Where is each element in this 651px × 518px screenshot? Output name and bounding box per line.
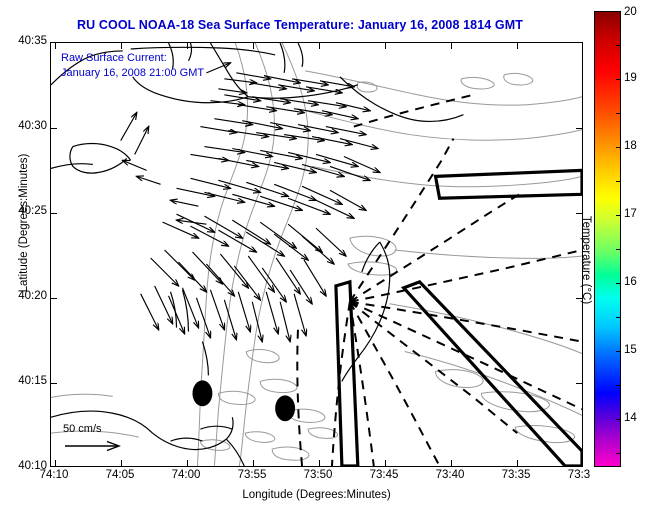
y-axis-labels: 40:35 40:30 40:25 40:20 40:15 40:10 bbox=[0, 42, 47, 467]
x-tick-label: 73:35 bbox=[502, 469, 531, 481]
map-plot-area[interactable]: Raw Surface Current: January 16, 2008 21… bbox=[50, 42, 583, 467]
station-marker bbox=[192, 380, 212, 406]
y-tick-label: 40:20 bbox=[1, 290, 47, 302]
colorbar-labels: 20 19 18 17 16 15 14 bbox=[624, 11, 646, 467]
station-marker bbox=[275, 395, 295, 421]
bathymetry-contours bbox=[51, 43, 582, 466]
x-tick-label: 74:10 bbox=[40, 469, 69, 481]
annotation-line-2: January 16, 2008 21:00 GMT bbox=[61, 66, 204, 81]
x-tick-label: 73:45 bbox=[370, 469, 399, 481]
y-tick-label: 40:15 bbox=[1, 375, 47, 387]
colorbar-tick-label: 16 bbox=[624, 276, 637, 288]
vector-scale-legend: 50 cm/s bbox=[63, 423, 123, 457]
figure-title: RU COOL NOAA-18 Sea Surface Temperature:… bbox=[0, 18, 600, 32]
colorbar-tick-label: 17 bbox=[624, 208, 637, 220]
colorbar[interactable] bbox=[594, 11, 621, 467]
colorbar-tick-label: 19 bbox=[624, 72, 637, 84]
y-tick-label: 40:35 bbox=[1, 35, 47, 47]
x-axis-labels: 74:10 74:05 74:00 73:55 73:50 73:45 73:4… bbox=[50, 469, 583, 489]
annotation-line-1: Raw Surface Current: bbox=[61, 51, 204, 66]
x-axis-title: Longitude (Degrees:Minutes) bbox=[50, 489, 583, 501]
colorbar-tick-label: 18 bbox=[624, 140, 637, 152]
sst-map-figure: RU COOL NOAA-18 Sea Surface Temperature:… bbox=[0, 0, 651, 518]
colorbar-tick-label: 14 bbox=[624, 412, 637, 424]
coastline bbox=[51, 43, 463, 466]
shipping-lanes bbox=[336, 170, 582, 466]
x-tick-label: 74:00 bbox=[172, 469, 201, 481]
surface-current-vectors bbox=[121, 63, 380, 342]
colorbar-ticks bbox=[594, 11, 621, 467]
y-tick-label: 40:30 bbox=[1, 120, 47, 132]
scale-arrow-icon bbox=[63, 440, 123, 452]
y-tick-label: 40:25 bbox=[1, 205, 47, 217]
colorbar-title: Temperature (°C) bbox=[580, 180, 592, 340]
x-tick-label: 73:50 bbox=[304, 469, 333, 481]
x-tick-label: 73:55 bbox=[238, 469, 267, 481]
x-tick-label: 74:05 bbox=[106, 469, 135, 481]
colorbar-tick-label: 15 bbox=[624, 344, 637, 356]
colorbar-tick-label: 20 bbox=[624, 6, 637, 18]
x-tick-label: 73:40 bbox=[436, 469, 465, 481]
station-markers bbox=[192, 380, 295, 421]
current-annotation: Raw Surface Current: January 16, 2008 21… bbox=[61, 51, 204, 81]
scale-legend-label: 50 cm/s bbox=[63, 423, 123, 435]
map-graphics bbox=[51, 43, 582, 466]
x-tick-label: 73:3 bbox=[568, 469, 590, 481]
